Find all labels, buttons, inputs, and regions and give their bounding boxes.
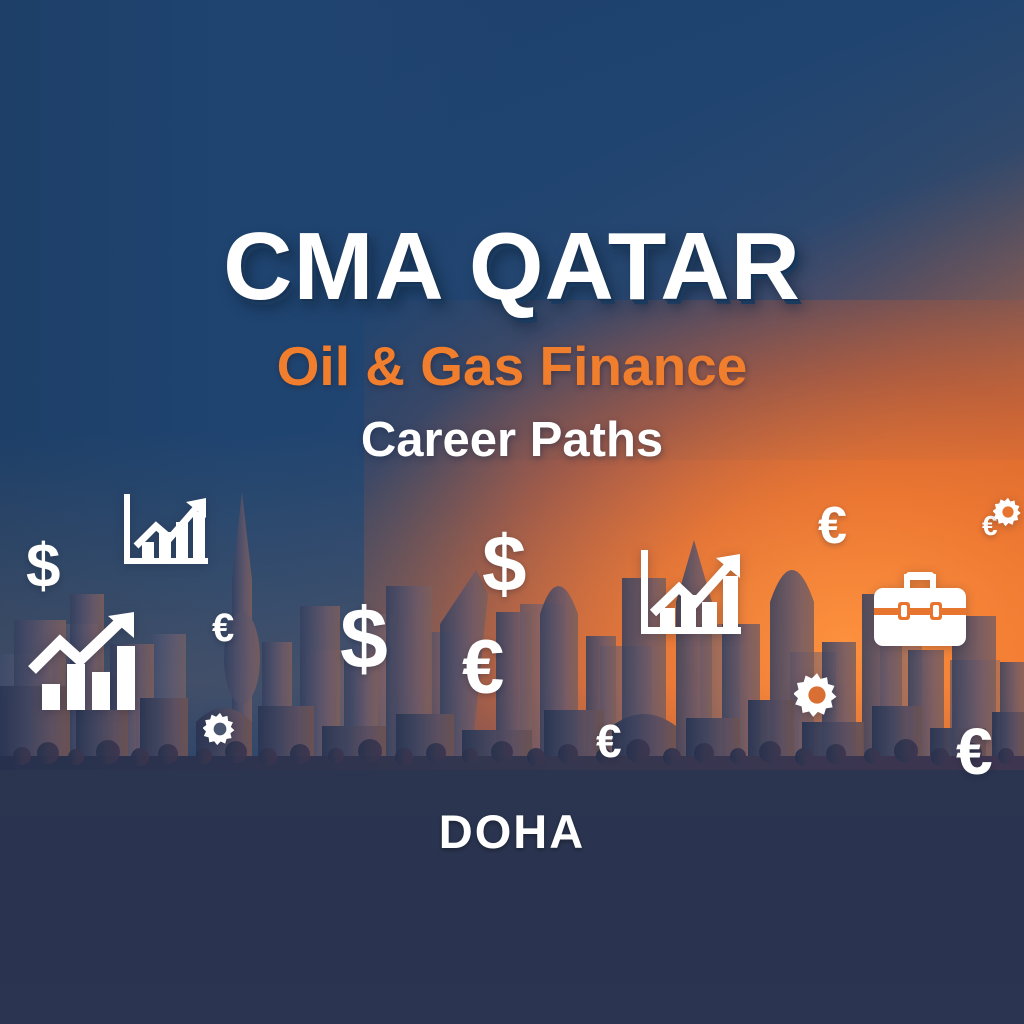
gear-icon-2 [794,672,840,718]
euro-sign-icon-2: € [462,630,504,706]
euro-sign-icon-6: € [956,718,993,784]
footer-band: DOHA [0,770,1024,1024]
dollar-sign-icon: $ [26,536,60,598]
growth-chart-icon-3 [636,548,746,646]
page-title: CMA QATAR [0,218,1024,316]
poster-canvas: CMA QATAR Oil & Gas Finance Career Paths… [0,0,1024,1024]
euro-sign-icon-3: € [596,718,622,764]
gear-icon-1 [203,712,237,746]
footer-city-label: DOHA [0,804,1024,859]
briefcase-icon [874,572,966,648]
dollar-sign-icon-3: $ [482,524,527,604]
page-tagline: Career Paths [0,412,1024,468]
euro-sign-icon-4: € [818,500,847,552]
gear-icon-3 [993,497,1023,527]
dollar-sign-icon-2: $ [340,596,388,682]
euro-sign-icon-1: € [212,608,234,648]
page-subtitle: Oil & Gas Finance [0,334,1024,398]
headline-block: CMA QATAR Oil & Gas Finance Career Paths [0,218,1024,468]
growth-chart-icon-1 [120,492,212,574]
growth-chart-icon-2 [28,612,143,712]
